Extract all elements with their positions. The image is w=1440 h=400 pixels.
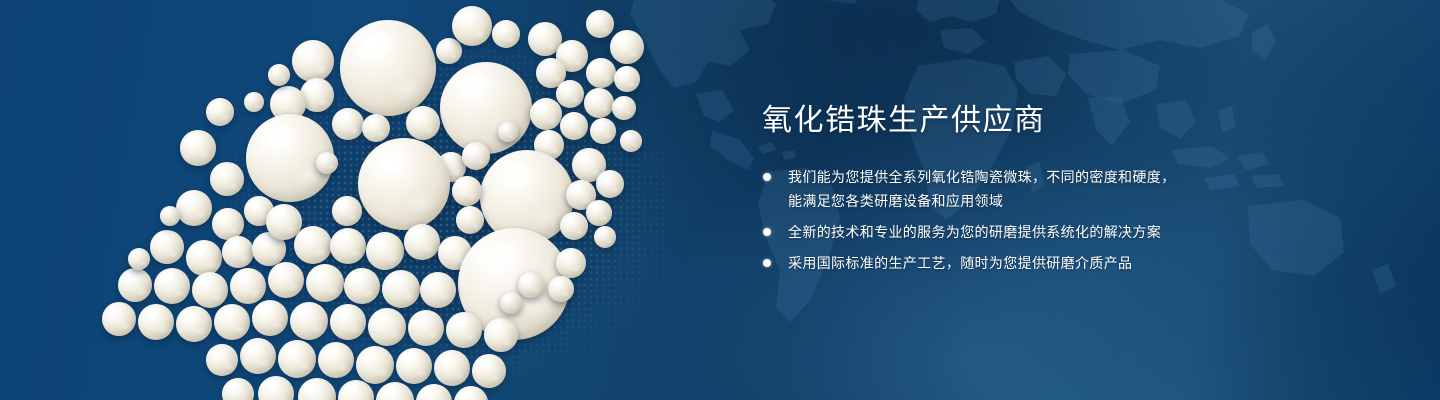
- bullet-line: 我们能为您提供全系列氧化锆陶瓷微珠，不同的密度和硬度，: [788, 165, 1322, 189]
- promo-banner: 氧化锆珠生产供应商 我们能为您提供全系列氧化锆陶瓷微珠，不同的密度和硬度， 能满…: [0, 0, 1440, 400]
- banner-feature-list: 我们能为您提供全系列氧化锆陶瓷微珠，不同的密度和硬度， 能满足您各类研磨设备和应…: [762, 165, 1322, 275]
- banner-headline: 氧化锆珠生产供应商: [762, 104, 1322, 139]
- banner-copy: 氧化锆珠生产供应商 我们能为您提供全系列氧化锆陶瓷微珠，不同的密度和硬度， 能满…: [762, 104, 1322, 275]
- bullet-line: 能满足您各类研磨设备和应用领域: [788, 189, 1322, 213]
- bullet-line: 全新的技术和专业的服务为您的研磨提供系统化的解决方案: [788, 220, 1322, 244]
- list-item: 全新的技术和专业的服务为您的研磨提供系统化的解决方案: [762, 220, 1322, 244]
- bullet-line: 采用国际标准的生产工艺，随时为您提供研磨介质产品: [788, 251, 1322, 275]
- bullet-dot-icon: [763, 259, 771, 267]
- list-item: 我们能为您提供全系列氧化锆陶瓷微珠，不同的密度和硬度， 能满足您各类研磨设备和应…: [762, 165, 1322, 213]
- bullet-dot-icon: [763, 173, 771, 181]
- bullet-dot-icon: [763, 228, 771, 236]
- list-item: 采用国际标准的生产工艺，随时为您提供研磨介质产品: [762, 251, 1322, 275]
